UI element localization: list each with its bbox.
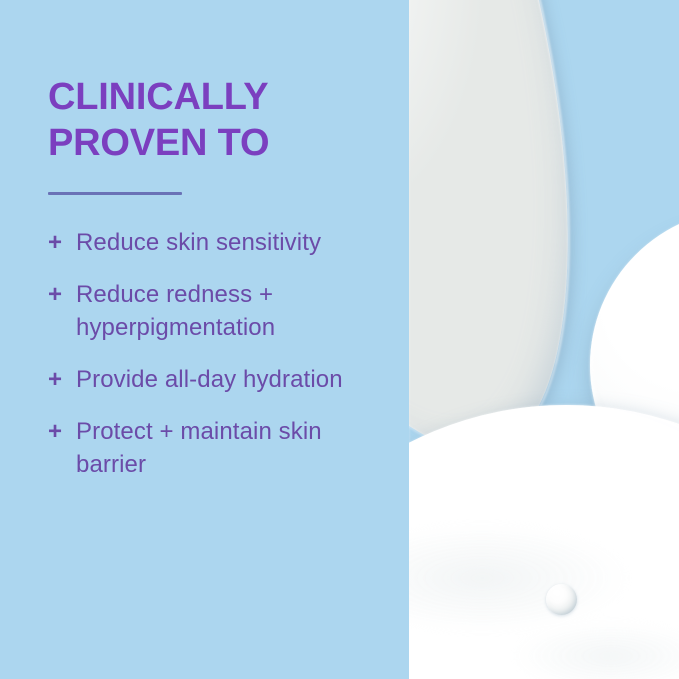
plus-icon: +: [48, 278, 76, 311]
benefit-text: Protect + maintain skin barrier: [76, 415, 388, 481]
plus-icon: +: [48, 363, 76, 396]
benefit-text: Provide all-day hydration: [76, 363, 388, 396]
cream-bubble: [546, 584, 577, 615]
plus-icon: +: [48, 415, 76, 448]
page-title: CLINICALLY PROVEN TO: [48, 74, 269, 166]
benefit-text: Reduce redness + hyperpigmentation: [76, 278, 388, 344]
title-divider-rule: [48, 192, 182, 195]
list-item: + Reduce skin sensitivity: [48, 226, 388, 259]
benefits-text-column: CLINICALLY PROVEN TO + Reduce skin sensi…: [48, 0, 393, 679]
benefit-text: Reduce skin sensitivity: [76, 226, 388, 259]
list-item: + Protect + maintain skin barrier: [48, 415, 388, 481]
product-benefits-card: CLINICALLY PROVEN TO + Reduce skin sensi…: [0, 0, 679, 679]
list-item: + Reduce redness + hyperpigmentation: [48, 278, 388, 344]
plus-icon: +: [48, 226, 76, 259]
benefit-list: + Reduce skin sensitivity + Reduce redne…: [48, 226, 388, 500]
list-item: + Provide all-day hydration: [48, 363, 388, 396]
cream-bubble-glint: [552, 589, 561, 596]
cream-photo-panel: [409, 0, 679, 679]
bottom-cream-dollop-rim-highlight: [409, 405, 679, 679]
